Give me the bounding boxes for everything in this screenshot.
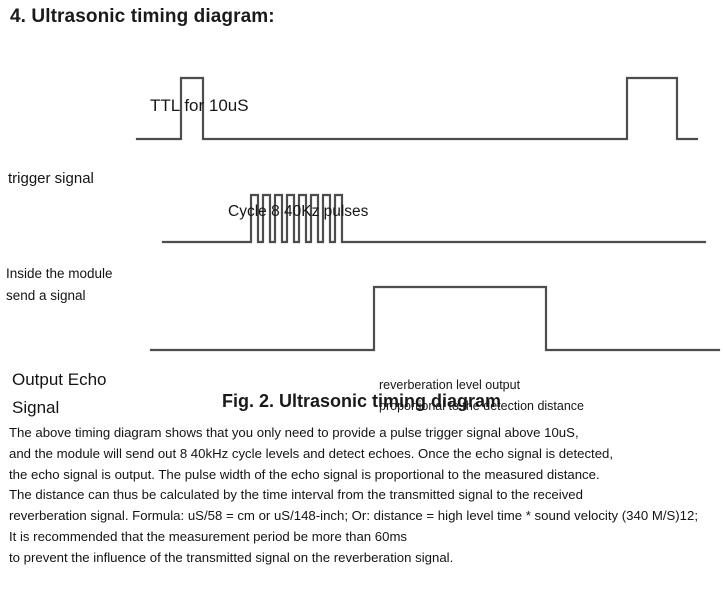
output-echo-label-line1: Output Echo — [12, 370, 107, 390]
inside-module-label-line2: send a signal — [6, 288, 86, 303]
trigger-signal-label: trigger signal — [8, 170, 94, 187]
timing-diagram: TTL for 10uS Cycle 8 40Kz pulses reverbe… — [0, 42, 723, 382]
cycle-burst-annotation: Cycle 8 40Kz pulses — [228, 203, 368, 221]
figure-caption: Fig. 2. Ultrasonic timing diagram — [0, 391, 723, 412]
echo-waveform-trace — [151, 287, 719, 350]
reverberation-annotation-line1: reverberation level output — [379, 378, 520, 392]
ultrasonic-timing-diagram-page: 4. Ultrasonic timing diagram: TTL for 10… — [0, 0, 723, 591]
ttl-pulse-annotation: TTL for 10uS — [150, 96, 249, 116]
body-text-line: It is recommended that the measurement p… — [9, 527, 719, 548]
body-text-line: to prevent the influence of the transmit… — [9, 548, 719, 569]
page-title: 4. Ultrasonic timing diagram: — [10, 6, 275, 28]
body-text-line: the echo signal is output. The pulse wid… — [9, 465, 719, 486]
body-text-line: and the module will send out 8 40kHz cyc… — [9, 444, 719, 465]
inside-module-label-line1: Inside the module — [6, 266, 113, 281]
body-text-line: reverberation signal. Formula: uS/58 = c… — [9, 506, 719, 527]
body-text-block: The above timing diagram shows that you … — [9, 423, 719, 569]
body-text-line: The distance can thus be calculated by t… — [9, 485, 719, 506]
body-text-line: The above timing diagram shows that you … — [9, 423, 719, 444]
